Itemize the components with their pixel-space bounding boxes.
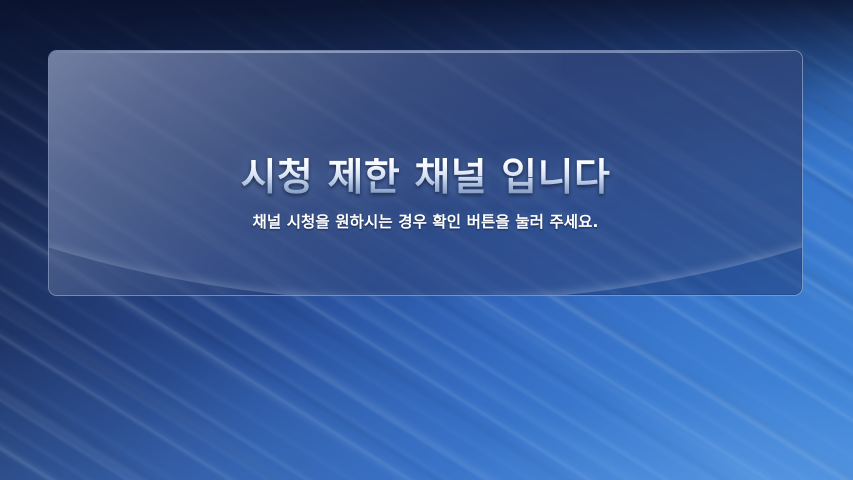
dialog-title: 시청 제한 채널 입니다 — [241, 158, 611, 199]
viewing-restriction-dialog: 시청 제한 채널 입니다 채널 시청을 원하시는 경우 확인 버튼을 눌러 주세… — [48, 50, 803, 296]
tv-screen: 시청 제한 채널 입니다 채널 시청을 원하시는 경우 확인 버튼을 눌러 주세… — [0, 0, 853, 480]
dialog-content: 시청 제한 채널 입니다 채널 시청을 원하시는 경우 확인 버튼을 눌러 주세… — [49, 51, 802, 295]
dialog-subtitle: 채널 시청을 원하시는 경우 확인 버튼을 눌러 주세요. — [252, 210, 598, 232]
